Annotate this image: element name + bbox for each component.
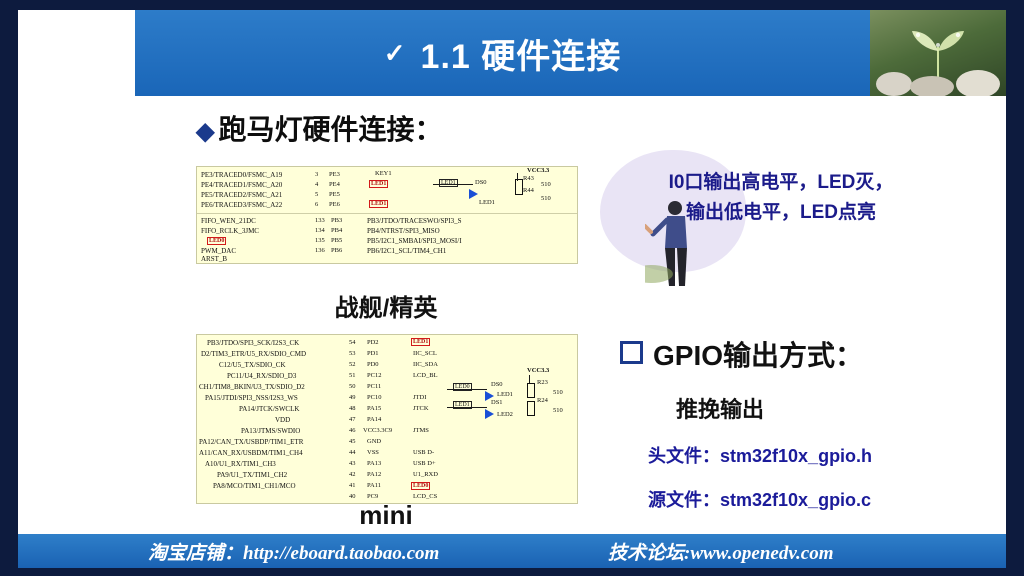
schematic-net: PA13/JTMS/SWDIO: [241, 427, 300, 435]
schematic-power-label: VCC3.3: [527, 367, 549, 374]
schematic-right-label: USB D+: [413, 460, 436, 467]
caption-board-zhanjian: 战舰/精英: [196, 288, 576, 323]
schematic-pin-number: 43: [349, 460, 356, 467]
note-text: I0口输出高电平，LED灭， 输出低电平，LED点亮: [636, 168, 926, 228]
schematic-pin-number: 42: [349, 471, 356, 478]
header-photo: [870, 10, 1006, 96]
schematic-pin: PB5: [331, 237, 342, 244]
schematic-right-label: JTCK: [413, 405, 429, 412]
schematic-resistor-value: 510: [541, 181, 551, 188]
schematic-pin: PE6: [329, 201, 340, 208]
schematic-net: C12/U5_TX/SDIO_CK: [219, 361, 286, 369]
resistor-symbol-icon: [515, 179, 523, 195]
schematic-net: PA14/JTCK/SWCLK: [239, 405, 299, 413]
schematic-led-name: LED1: [479, 199, 495, 206]
resistor-symbol-icon: [527, 401, 535, 416]
schematic-pin-number: 50: [349, 383, 356, 390]
schematic-right-label: LCD_BL: [413, 372, 438, 379]
schematic-red-label: LED1: [411, 338, 430, 346]
schematic-net: PA12/CAN_TX/USBDP/TIM1_ETR: [199, 438, 303, 446]
section-heading-gpio-text: GPIO输出方式：: [653, 340, 863, 371]
schematic-pin: PA13: [367, 460, 381, 467]
section-heading-text: 跑马灯硬件连接：: [218, 114, 442, 145]
schematic-pin-number: 49: [349, 394, 356, 401]
note-line-1: I0口输出高电平，LED灭，: [636, 168, 926, 198]
schematic-pin-number: 41: [349, 482, 356, 489]
schematic-pin: VSS: [367, 449, 379, 456]
schematic-pin-number: 52: [349, 361, 356, 368]
schematic-right-label: LCD_CS: [413, 493, 437, 500]
schematic-divider: [197, 213, 577, 214]
schematic-net: PB4/NTRST/SPI3_MISO: [367, 227, 440, 235]
schematic-net: PA8/MCO/TIM1_CH1/MCO: [213, 482, 296, 490]
gpio-mode-text: 推挽输出: [676, 392, 764, 424]
schematic-pin-number: 5: [315, 191, 318, 198]
schematic-image-bottom: PB3/JTDO/SPI3_SCK/I2S3_CK D2/TIM3_ETR/U5…: [196, 334, 578, 504]
schematic-net: A11/CAN_RX/USBDM/TIM1_CH4: [199, 449, 303, 457]
schematic-pin: PD0: [367, 361, 379, 368]
pebble-shape: [876, 72, 912, 96]
schematic-left-text: ARST_B: [201, 255, 227, 263]
resistor-symbol-icon: [527, 383, 535, 398]
led-symbol-icon: [469, 189, 478, 199]
schematic-pin-number: 40: [349, 493, 356, 500]
schematic-red-label: LED0: [411, 482, 430, 490]
schematic-right-label: IIC_SDA: [413, 361, 438, 368]
schematic-pin-number: 46: [349, 427, 356, 434]
schematic-pin-number: 45: [349, 438, 356, 445]
schematic-net: PE6/TRACED3/FSMC_A22: [201, 201, 282, 209]
schematic-net: PB5/I2C1_SMBAI/SPI3_MOSI/I: [367, 237, 462, 245]
schematic-left-text: FIFO_WEN_21DC: [201, 217, 256, 225]
schematic-right-label: IIC_SCL: [413, 350, 437, 357]
schematic-pin: PA12: [367, 471, 381, 478]
gpio-header-file: 头文件：stm32f10x_gpio.h: [648, 442, 872, 468]
schematic-red-label: LED0: [207, 237, 226, 245]
schematic-wire: [433, 184, 473, 185]
schematic-right-label: JTMS: [413, 427, 429, 434]
schematic-pin: PC11: [367, 383, 381, 390]
schematic-pin-number: 4: [315, 181, 318, 188]
schematic-resistor-value: 510: [553, 389, 563, 396]
schematic-pin-number: 47: [349, 416, 356, 423]
schematic-pin: PE3: [329, 171, 340, 178]
schematic-net: PA9/U1_TX/TIM1_CH2: [217, 471, 287, 479]
schematic-pin: PC9: [367, 493, 378, 500]
schematic-resistor-ref: R44: [523, 187, 534, 194]
schematic-pin: VCC3.3C9: [363, 427, 392, 434]
schematic-wire: [517, 173, 518, 181]
schematic-net: D2/TIM3_ETR/U5_RX/SDIO_CMD: [201, 350, 306, 358]
schematic-resistor-value: 510: [553, 407, 563, 414]
schematic-pin-number: 44: [349, 449, 356, 456]
schematic-pin-number: 136: [315, 247, 325, 254]
schematic-led-net: LED1: [439, 179, 458, 187]
led-symbol-icon: [485, 391, 494, 401]
section-heading-hardware: ◆跑马灯硬件连接：: [196, 108, 442, 148]
square-bullet-icon: [620, 341, 643, 364]
schematic-pin: PC10: [367, 394, 381, 401]
schematic-pin-number: 134: [315, 227, 325, 234]
schematic-red-label: LED1: [369, 200, 388, 208]
schematic-pin-number: 48: [349, 405, 356, 412]
frame-top-border: [0, 0, 1024, 10]
schematic-led-name: LED1: [497, 391, 513, 398]
schematic-pin-number: 3: [315, 171, 318, 178]
schematic-image-top: PE3/TRACED0/FSMC_A19 PE4/TRACED1/FSMC_A2…: [196, 166, 578, 264]
schematic-pin: PC12: [367, 372, 381, 379]
schematic-pin: PB3: [331, 217, 342, 224]
schematic-wire: [529, 375, 530, 383]
schematic-right-label: U1_RXD: [413, 471, 438, 478]
pebble-shape: [910, 76, 954, 96]
schematic-led-ref: DS0: [491, 381, 503, 388]
schematic-pin: PD1: [367, 350, 379, 357]
schematic-resistor-ref: R23: [537, 379, 548, 386]
schematic-pin-number: 53: [349, 350, 356, 357]
diamond-bullet-icon: ◆: [196, 118, 214, 145]
schematic-label-key: KEY1: [375, 170, 392, 177]
schematic-net: PA15/JTDI/SPI3_NSS/I2S3_WS: [205, 394, 298, 402]
schematic-pin: PD2: [367, 339, 379, 346]
schematic-net: PE3/TRACED0/FSMC_A19: [201, 171, 282, 179]
schematic-pin-number: 133: [315, 217, 325, 224]
check-icon: ✓: [384, 38, 407, 69]
schematic-right-label: JTDI: [413, 394, 426, 401]
schematic-red-label: LED1: [369, 180, 388, 188]
schematic-left-text: PWM_DAC: [201, 247, 236, 255]
pebble-shape: [956, 70, 1000, 96]
schematic-pin: PB6: [331, 247, 342, 254]
slide-root: ✓ 1.1 硬件连接 ◆跑马灯硬件连接： PE3/TRACED0/FSMC_A1…: [0, 0, 1024, 576]
schematic-pin: PA15: [367, 405, 381, 412]
schematic-net: PB3/JTDO/TRACESWO/SPI3_S: [367, 217, 462, 225]
schematic-pin-number: 135: [315, 237, 325, 244]
frame-right-border: [1006, 0, 1024, 576]
schematic-led-ref: DS0: [475, 179, 487, 186]
schematic-wire: [447, 389, 487, 390]
schematic-pin: PA14: [367, 416, 381, 423]
schematic-net: PE4/TRACED1/FSMC_A20: [201, 181, 282, 189]
schematic-net: PB3/JTDO/SPI3_SCK/I2S3_CK: [207, 339, 299, 347]
footer-bar: 淘宝店铺：http://eboard.taobao.com 技术论坛:www.o…: [18, 534, 1006, 568]
schematic-net: PB6/I2C1_SCL/TIM4_CH1: [367, 247, 446, 255]
schematic-net: PE5/TRACED2/FSMC_A21: [201, 191, 282, 199]
schematic-pin-number: 6: [315, 201, 318, 208]
schematic-resistor-value: 510: [541, 195, 551, 202]
schematic-pin: PB4: [331, 227, 342, 234]
schematic-net: A10/U1_RX/TIM1_CH3: [205, 460, 276, 468]
schematic-left-text: FIFO_RCLK_3JMC: [201, 227, 259, 235]
schematic-resistor-ref: R43: [523, 175, 534, 182]
schematic-power-label: VCC3.3: [527, 167, 549, 174]
led-symbol-icon: [485, 409, 494, 419]
footer-forum-link[interactable]: 技术论坛:www.openedv.com: [608, 538, 834, 565]
schematic-wire: [447, 407, 487, 408]
section-heading-gpio: GPIO输出方式：: [620, 334, 863, 374]
schematic-net: CH1/TIM8_BKIN/U3_TX/SDIO_D2: [199, 383, 305, 391]
frame-bottom-border: [0, 568, 1024, 576]
schematic-net: PC11/U4_RX/SDIO_D3: [227, 372, 296, 380]
schematic-pin: PE4: [329, 181, 340, 188]
schematic-resistor-ref: R24: [537, 397, 548, 404]
schematic-pin: PE5: [329, 191, 340, 198]
schematic-net: VDD: [275, 416, 290, 424]
note-line-2: 输出低电平，LED点亮: [636, 198, 926, 228]
schematic-pin: PA11: [367, 482, 381, 489]
schematic-pin: GND: [367, 438, 381, 445]
schematic-led-name: LED2: [497, 411, 513, 418]
schematic-pin-number: 51: [349, 372, 356, 379]
frame-left-border: [0, 0, 18, 576]
page-title: ✓ 1.1 硬件连接: [135, 10, 870, 96]
schematic-pin-number: 54: [349, 339, 356, 346]
schematic-right-label: USB D-: [413, 449, 434, 456]
gpio-source-file: 源文件：stm32f10x_gpio.c: [648, 486, 871, 512]
footer-shop-link[interactable]: 淘宝店铺：http://eboard.taobao.com: [148, 538, 439, 565]
caption-board-mini: mini: [196, 500, 576, 531]
page-title-text: 1.1 硬件连接: [421, 29, 622, 78]
